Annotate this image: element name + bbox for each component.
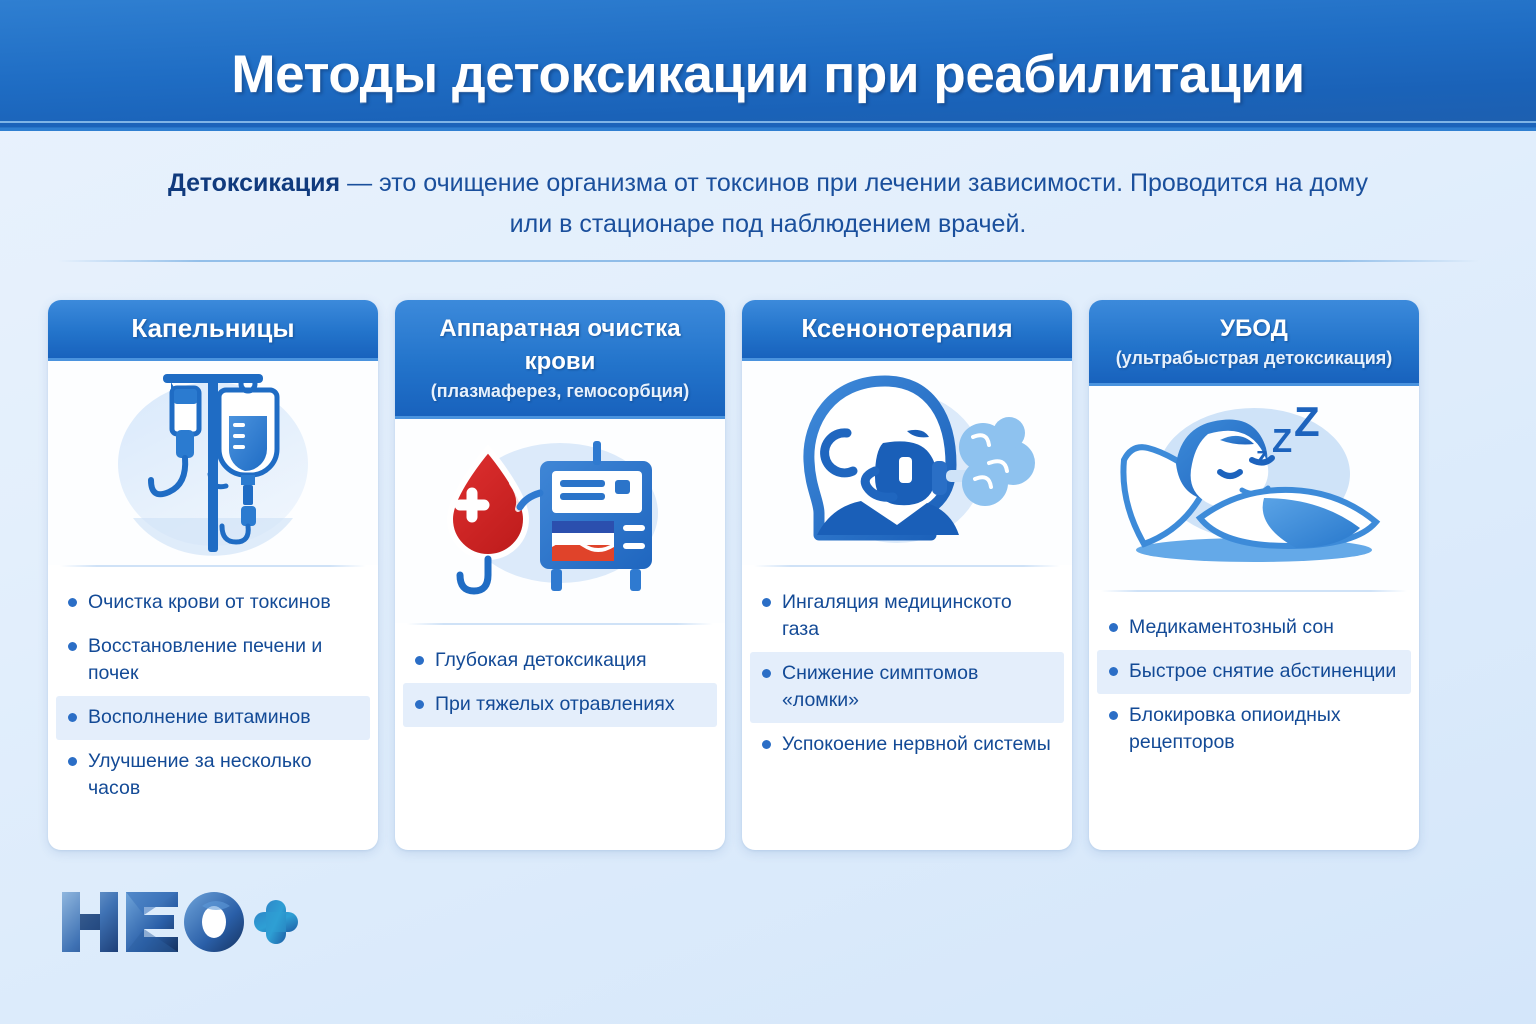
bullet-dot-icon [1109, 623, 1118, 632]
list-item[interactable]: Восполнение витаминов [56, 696, 370, 740]
card-title: Аппаратная очистка крови [405, 312, 715, 378]
list-item[interactable]: Улучшение за несколько часов [56, 740, 370, 811]
list-item[interactable]: Блокировка опиоидных рецепторов [1097, 694, 1411, 765]
method-card-ubod[interactable]: УБОД (ультрабыстрая детоксикация) [1089, 300, 1419, 850]
intro-paragraph: Детоксикация — это очищение организма от… [168, 163, 1368, 245]
neo-plus-logo [58, 886, 298, 963]
list-item-label: Медикаментозный сон [1129, 614, 1399, 641]
benefit-list: Ингаляция медицинското газа Снижение сим… [742, 567, 1072, 785]
card-header: Капельницы [48, 300, 378, 361]
bullet-dot-icon [415, 700, 424, 709]
method-card-grid: Капельницы [48, 300, 1490, 850]
bullet-dot-icon [68, 757, 77, 766]
bullet-dot-icon [1109, 711, 1118, 720]
header-banner: Методы детоксикации при реабилитации [0, 0, 1536, 131]
sleeping-patient-icon: z Z Z [1089, 386, 1419, 590]
bullet-dot-icon [68, 713, 77, 722]
card-header: Аппаратная очистка крови (плазмаферез, г… [395, 300, 725, 419]
svg-text:Z: Z [1272, 422, 1292, 459]
list-item-label: Блокировка опиоидных рецепторов [1129, 702, 1399, 756]
list-item[interactable]: Восстановление печени и почек [56, 625, 370, 696]
list-item[interactable]: Глубокая детоксикация [403, 639, 717, 683]
gas-mask-inhalation-icon [742, 361, 1072, 565]
svg-text:z: z [1256, 443, 1268, 470]
card-header: УБОД (ультрабыстрая детоксикация) [1089, 300, 1419, 386]
benefit-list: Медикаментозный сон Быстрое снятие абсти… [1089, 592, 1419, 783]
card-header: Ксенонотерапия [742, 300, 1072, 361]
method-card-apparatnaya-ochistka[interactable]: Аппаратная очистка крови (плазмаферез, г… [395, 300, 725, 850]
infographic-page: Методы детоксикации при реабилитации Дет… [0, 0, 1536, 1024]
bullet-dot-icon [68, 642, 77, 651]
bullet-dot-icon [762, 740, 771, 749]
benefit-list: Очистка крови от токсинов Восстановление… [48, 567, 378, 829]
list-item[interactable]: Быстрое снятие абстиненции [1097, 650, 1411, 694]
list-item-label: Восполнение витаминов [88, 704, 358, 731]
card-title: Ксенонотерапия [752, 312, 1062, 345]
page-title: Методы детоксикации при реабилитации [0, 44, 1536, 105]
list-item[interactable]: Успокоение нервной системы [750, 723, 1064, 767]
intro-lead-word: Детоксикация [168, 169, 340, 197]
benefit-list: Глубокая детоксикация При тяжелых отравл… [395, 625, 725, 745]
list-item-label: Улучшение за несколько часов [88, 748, 358, 802]
list-item[interactable]: При тяжелых отравлениях [403, 683, 717, 727]
bullet-dot-icon [415, 656, 424, 665]
list-item-label: Очистка крови от токсинов [88, 589, 358, 616]
list-item-label: Глубокая детоксикация [435, 647, 705, 674]
card-subtitle: (ультрабыстрая детоксикация) [1099, 346, 1409, 370]
list-item[interactable]: Снижение симптомов «ломки» [750, 652, 1064, 723]
svg-text:Z: Z [1294, 398, 1320, 445]
iv-drip-icon [48, 361, 378, 565]
method-card-kapelnitsy[interactable]: Капельницы [48, 300, 378, 850]
bullet-dot-icon [68, 598, 77, 607]
list-item[interactable]: Очистка крови от токсинов [56, 581, 370, 625]
bullet-dot-icon [762, 669, 771, 678]
method-card-ksenonoterapiya[interactable]: Ксенонотерапия [742, 300, 1072, 850]
card-title: УБОД [1099, 312, 1409, 345]
blood-purification-machine-icon [395, 419, 725, 623]
bullet-dot-icon [762, 598, 771, 607]
intro-rest-text: — это очищение организма от токсинов при… [340, 169, 1368, 238]
card-subtitle: (плазмаферез, гемосорбция) [405, 379, 715, 403]
intro-divider [57, 260, 1479, 262]
list-item-label: Снижение симптомов «ломки» [782, 660, 1052, 714]
list-item-label: При тяжелых отравлениях [435, 691, 705, 718]
list-item-label: Успокоение нервной системы [782, 731, 1052, 758]
list-item-label: Восстановление печени и почек [88, 633, 358, 687]
bullet-dot-icon [1109, 667, 1118, 676]
list-item[interactable]: Ингаляция медицинското газа [750, 581, 1064, 652]
list-item-label: Быстрое снятие абстиненции [1129, 658, 1399, 685]
card-title: Капельницы [58, 312, 368, 345]
list-item-label: Ингаляция медицинското газа [782, 589, 1052, 643]
list-item[interactable]: Медикаментозный сон [1097, 606, 1411, 650]
